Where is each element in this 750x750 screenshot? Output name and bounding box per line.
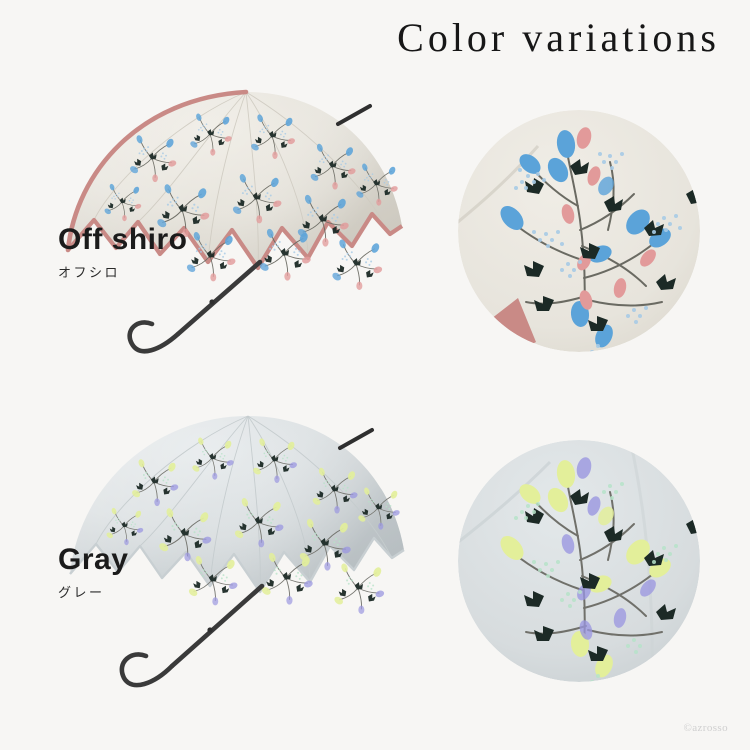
- variant-name-jp-gray: グレー: [58, 582, 128, 601]
- page-title: Color variations: [397, 14, 720, 61]
- umbrella-ferrule-offshiro: [338, 106, 370, 124]
- umbrella-ferrule-gray: [340, 430, 372, 448]
- fabric-detail-offshiro: [458, 110, 700, 352]
- product-color-variation-board: Color variations: [0, 0, 750, 750]
- variant-label-gray: Gray グレー: [58, 544, 128, 601]
- variant-label-offshiro: Off shiro オフシロ: [58, 224, 188, 281]
- umbrella-handle-gray: [122, 586, 262, 685]
- variant-name-jp-offshiro: オフシロ: [58, 262, 188, 281]
- variant-name-en-offshiro: Off shiro: [58, 224, 188, 256]
- copyright-watermark: ©azrosso: [683, 722, 728, 734]
- variant-name-en-gray: Gray: [58, 544, 128, 576]
- fabric-detail-gray: [458, 440, 700, 682]
